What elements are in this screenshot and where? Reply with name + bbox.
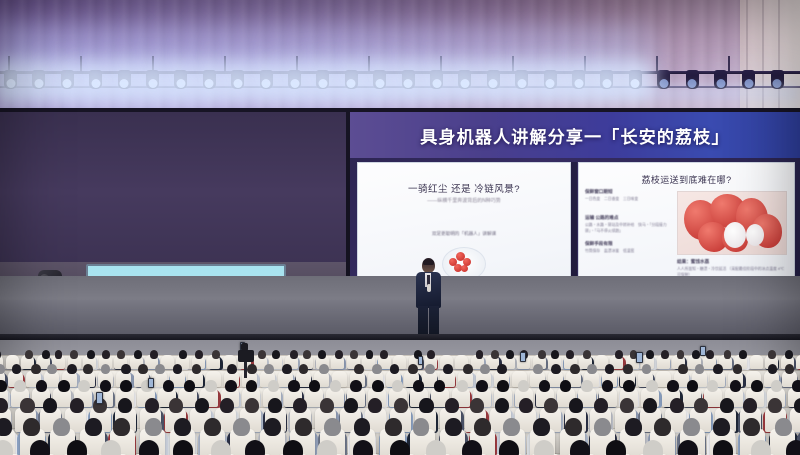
audience-member-head (366, 350, 374, 359)
audience-member-head (519, 398, 533, 413)
audience-member-head (212, 350, 220, 359)
audience-member-head (615, 350, 623, 359)
audience-member-head (138, 364, 148, 374)
audience-member-head (14, 380, 25, 392)
audience-member-head (724, 350, 732, 359)
audience-member-head (53, 418, 70, 436)
audience-member-head (268, 380, 279, 392)
audience-member-head (20, 398, 34, 413)
audience-member-head (25, 350, 33, 359)
audience-member-head (179, 350, 187, 359)
audience-member-head (335, 350, 343, 359)
audience-member-head (794, 398, 800, 413)
audience-member-head (354, 364, 364, 374)
audience-member-head (581, 380, 592, 392)
audience-member-head (394, 398, 408, 413)
audience-member-head (102, 350, 110, 359)
audience-member-head (354, 418, 371, 436)
audience-member-head (30, 440, 50, 455)
slide-right-title: 荔枝运送到底难在哪? (579, 173, 794, 186)
audience-member-head (771, 380, 782, 392)
audience-member-head (743, 418, 760, 436)
audience-member-head (247, 364, 257, 374)
audience-member-head (145, 398, 159, 413)
audience-member-head (272, 350, 280, 359)
audience-member-head (646, 350, 654, 359)
audience-member-head (654, 418, 671, 436)
audience-member-head (462, 440, 482, 455)
smartphone-recording (700, 346, 706, 356)
audience-member-head (602, 380, 613, 392)
audience-member-head (661, 350, 669, 359)
seat (750, 355, 763, 369)
audience-member-head (43, 398, 57, 413)
presentation-title: 具身机器人讲解分享一「长安的荔枝」 (350, 123, 800, 148)
audience-member-head (204, 418, 221, 436)
audience-member-head (211, 440, 231, 455)
audience-member-head (560, 380, 571, 392)
audience-member-head (474, 418, 491, 436)
audience-member-head (566, 350, 574, 359)
speaker-on-stage (408, 258, 448, 342)
audience-member-head (497, 380, 508, 392)
audience-member-head (518, 380, 529, 392)
audience-member-head (569, 398, 583, 413)
audience-member-head (565, 418, 582, 436)
audience-member-head (491, 350, 499, 359)
audience-member-head (47, 364, 57, 374)
audience-member-head (264, 418, 281, 436)
audience-member-head (583, 350, 591, 359)
audience-member-head (78, 380, 89, 392)
speaker-hair (423, 259, 434, 265)
audience-member-head (687, 380, 698, 392)
audience-member-head (174, 418, 191, 436)
audience-member-head (751, 440, 771, 455)
audience-member-head (733, 364, 743, 374)
audience-member-head (570, 440, 590, 455)
audience-member-head (470, 398, 484, 413)
audience-member-head (390, 364, 400, 374)
audience-member-head (264, 364, 274, 374)
audience-member-head (220, 398, 234, 413)
audience-member-head (245, 398, 259, 413)
slide-left-subtitle: ——纵横千里奔波背后的N种巧势 (358, 197, 570, 204)
bullet-heading: 保鲜手段有限 (585, 241, 671, 247)
audience-member-head (184, 380, 195, 392)
audience-member-head (225, 380, 236, 392)
audience-member-head (408, 364, 418, 374)
audience-member-head (730, 380, 741, 392)
audience-member-head (670, 398, 684, 413)
audience-member-head (100, 380, 111, 392)
audience-member-head (476, 380, 487, 392)
audience-member-head (368, 398, 382, 413)
camera-viewfinder (241, 343, 248, 351)
audience-member-head (792, 380, 800, 392)
audience-member-head (318, 350, 326, 359)
audience-member-head (445, 398, 459, 413)
bullet-group: 保鲜手段有限竹筒保存 盐渍冰鉴 低温窖 (585, 241, 671, 255)
audience-member-head (594, 398, 608, 413)
audience-member-head (623, 364, 633, 374)
audience-member-head (67, 440, 87, 455)
audience-member-head (155, 364, 165, 374)
bullet-detail: 竹筒保存 盐渍冰鉴 低温窖 (585, 249, 671, 255)
audience-member-head (623, 380, 634, 392)
audience-member-head (0, 398, 8, 413)
audience-member-head (324, 418, 341, 436)
audience-member-head (169, 398, 183, 413)
audience-member-head (309, 380, 320, 392)
audience-member-head (425, 364, 435, 374)
audience-member-head (350, 380, 361, 392)
audience-member-head (87, 350, 95, 359)
audience-member-head (380, 350, 388, 359)
audience-member-head (646, 380, 657, 392)
conference-photo: 一骑红尘还是冷链风景? 双足更聪明的「机器人」讲解课 大家好，今天咱们不聊内卷，… (0, 0, 800, 455)
audience-member-head (319, 364, 329, 374)
audience-member-head (317, 440, 337, 455)
audience-member-head (120, 380, 131, 392)
smartphone-recording (96, 392, 103, 404)
audience-member-head (372, 364, 382, 374)
audience-member-head (445, 418, 462, 436)
audience-member-head (539, 380, 550, 392)
audience-member-head (551, 364, 561, 374)
audience-member-head (85, 418, 102, 436)
audience-member-head (476, 350, 484, 359)
audience-member-head (694, 398, 708, 413)
smartphone-recording (520, 352, 526, 362)
smartphone-recording (636, 352, 643, 363)
audience-member-head (713, 364, 723, 374)
audience-member-head (83, 364, 93, 374)
seat (796, 355, 800, 369)
audience-member-head (594, 418, 611, 436)
audience-member-head (768, 350, 776, 359)
audience-member-head (205, 380, 216, 392)
audience-member-head (299, 364, 309, 374)
audience-member-head (683, 418, 700, 436)
audience-member-head (538, 350, 546, 359)
audience-member-head (713, 418, 730, 436)
audience-member-head (768, 398, 782, 413)
audience-member-head (713, 440, 733, 455)
audience-member-head (551, 350, 559, 359)
audience-member-head (739, 350, 747, 359)
audience-member-head (625, 418, 642, 436)
audience-member-head (506, 350, 514, 359)
audience-member-head (58, 380, 69, 392)
audience-member-head (785, 350, 793, 359)
audience-member-head (293, 398, 307, 413)
audience-member-head (413, 418, 430, 436)
audience-member-head (775, 418, 792, 436)
audience-member-head (320, 398, 334, 413)
audience-member-head (31, 364, 41, 374)
audience-member-head (290, 350, 298, 359)
audience-member-head (457, 380, 468, 392)
audience-member-head (150, 350, 158, 359)
audience-member-head (134, 350, 142, 359)
audience-member-head (372, 380, 383, 392)
audience-member-head (268, 398, 282, 413)
audience-member-head (503, 418, 520, 436)
audience-seating (0, 340, 800, 455)
audience-member-head (117, 350, 125, 359)
slide-left-note: 双足更聪明的「机器人」讲解课 (358, 231, 570, 237)
audience-member-head (678, 440, 698, 455)
audience-member-head (118, 398, 132, 413)
audience-member-head (227, 364, 237, 374)
audience-member-head (192, 364, 202, 374)
audience-member-head (443, 364, 453, 374)
audience-member-head (283, 440, 303, 455)
audience-member-head (706, 350, 714, 359)
audience-member-head (70, 398, 84, 413)
audience-member-head (344, 398, 358, 413)
audience-member-head (620, 398, 634, 413)
bullet-heading: 运输 公路的难点 (585, 215, 671, 221)
audience-member-head (390, 440, 410, 455)
audience-member-head (385, 418, 402, 436)
audience-member-head (246, 380, 257, 392)
audience-member-head (245, 440, 265, 455)
audience-member-head (720, 398, 734, 413)
audience-member-head (392, 380, 403, 392)
audience-member-head (288, 380, 299, 392)
audience-member-head (12, 364, 22, 374)
bullet-detail: 一日色变 二日香变 三日味变 (585, 197, 671, 203)
audience-member-head (282, 364, 292, 374)
lychee-photo (677, 191, 787, 255)
audience-member-head (707, 380, 718, 392)
bullet-group: 运输 公路的难点公路・水路・驿站及中转补给 快马・「分段接力驿」・「马不停火续跑… (585, 215, 671, 234)
audience-member-head (743, 398, 757, 413)
audience-member-head (70, 350, 78, 359)
bullet-detail: 公路・水路・驿站及中转补给 快马・「分段接力驿」・「马不停火续跑」 (585, 223, 671, 234)
audience-member-head (533, 364, 543, 374)
audience-member-head (533, 418, 550, 436)
audience-member-head (495, 398, 509, 413)
audience-member-head (534, 440, 554, 455)
audience-member-head (587, 364, 597, 374)
smartphone-recording (418, 356, 423, 365)
audience-member-head (258, 350, 266, 359)
smartphone-recording (148, 378, 154, 388)
audience-member-head (606, 440, 626, 455)
audience-member-head (786, 440, 800, 455)
audience-member-head (330, 380, 341, 392)
audience-member-head (570, 364, 580, 374)
audience-member-head (23, 418, 40, 436)
audience-member-head (233, 418, 250, 436)
audience-member-head (350, 350, 358, 359)
audience-member-head (295, 418, 312, 436)
audience-member-head (427, 350, 435, 359)
audience-member-head (55, 350, 63, 359)
video-camera (238, 350, 254, 362)
slide-left-title: 一骑红尘 还是 冷链风景? (358, 181, 570, 195)
audience-member-head (42, 350, 50, 359)
audience-member-head (678, 364, 688, 374)
audience-member-head (497, 364, 507, 374)
audience-member-head (163, 380, 174, 392)
audience-member-head (173, 364, 183, 374)
caption-heading: 结果：蜜饯水荔 (677, 259, 787, 265)
bullet-heading: 保鲜窗口期短 (585, 189, 671, 195)
audience-member-head (145, 418, 162, 436)
audience-member-head (677, 350, 685, 359)
audience-member-head (643, 398, 657, 413)
audience-member-head (113, 418, 130, 436)
audience-member-head (303, 350, 311, 359)
audience-member-head (667, 380, 678, 392)
audience-member-head (419, 398, 433, 413)
audience-member-head (195, 398, 209, 413)
audience-member-head (195, 350, 203, 359)
camera-monopod (244, 362, 247, 378)
audience-member-head (544, 398, 558, 413)
handheld-microphone (427, 284, 431, 292)
bullet-group: 保鲜窗口期短一日色变 二日香变 三日味变 (585, 189, 671, 203)
audience-member-head (751, 380, 762, 392)
